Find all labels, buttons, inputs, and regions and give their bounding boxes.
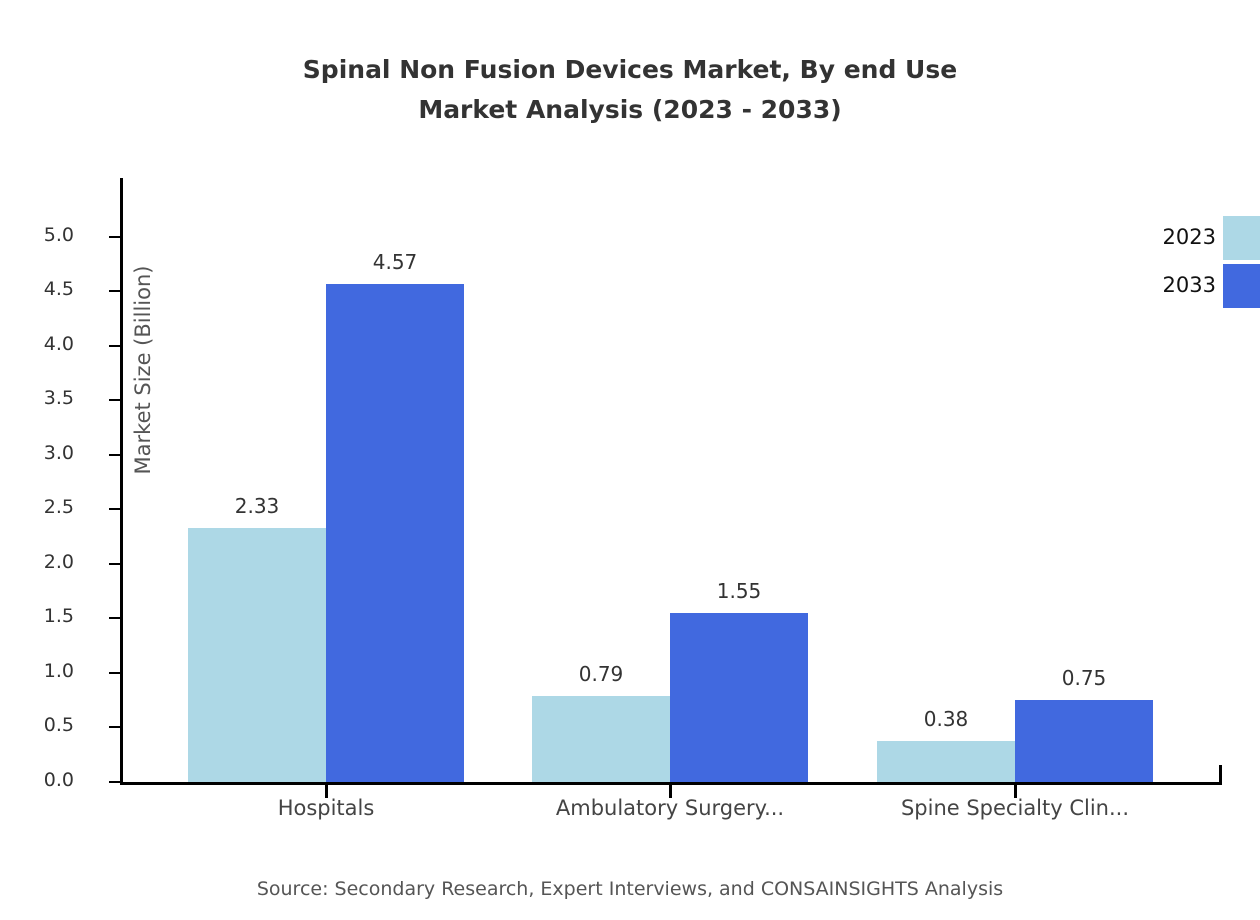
- x-axis-end-tick: [1219, 765, 1222, 785]
- x-axis-category-label: Spine Specialty Clin...: [835, 796, 1195, 820]
- y-axis-tick: [109, 399, 120, 401]
- chart-title-line-1: Spinal Non Fusion Devices Market, By end…: [0, 50, 1260, 90]
- x-axis-category-label: Hospitals: [146, 796, 506, 820]
- y-axis-tick: [109, 781, 120, 783]
- legend-label-2023: 2023: [1120, 225, 1216, 249]
- y-axis-tick-label: 3.5: [0, 387, 74, 409]
- y-axis-tick: [109, 345, 120, 347]
- x-axis-category-label: Ambulatory Surgery...: [490, 796, 850, 820]
- y-axis-tick-label: 4.0: [0, 333, 74, 355]
- y-axis-tick: [109, 508, 120, 510]
- bar-2033-1[interactable]: [670, 613, 808, 782]
- plot-area: Market Size (Billion) 0.00.51.01.52.02.5…: [120, 178, 1222, 782]
- y-axis-tick: [109, 563, 120, 565]
- bar-value-label: 4.57: [315, 250, 475, 274]
- y-axis-tick-label: 2.5: [0, 496, 74, 518]
- legend-swatch-2033: [1223, 264, 1260, 308]
- y-axis-spine: [120, 178, 123, 782]
- chart-title-line-2: Market Analysis (2023 - 2033): [0, 90, 1260, 130]
- bar-value-label: 0.75: [1004, 666, 1164, 690]
- legend-label-2033: 2033: [1120, 273, 1216, 297]
- y-axis-tick-label: 5.0: [0, 224, 74, 246]
- legend-swatch-2023: [1223, 216, 1260, 260]
- legend: 2023 2033: [1120, 216, 1260, 312]
- bar-value-label: 1.55: [659, 579, 819, 603]
- bar-value-label: 0.38: [866, 707, 1026, 731]
- bar-2023-2[interactable]: [877, 741, 1015, 782]
- y-axis-tick: [109, 726, 120, 728]
- legend-item-2033[interactable]: 2033: [1120, 264, 1260, 308]
- y-axis-tick-label: 0.0: [0, 769, 74, 791]
- y-axis-tick: [109, 290, 120, 292]
- y-axis-tick: [109, 454, 120, 456]
- y-axis-tick-label: 3.0: [0, 442, 74, 464]
- y-axis-tick-label: 1.5: [0, 605, 74, 627]
- y-axis-tick-label: 0.5: [0, 714, 74, 736]
- y-axis-tick-label: 2.0: [0, 551, 74, 573]
- legend-item-2023[interactable]: 2023: [1120, 216, 1260, 260]
- source-note: Source: Secondary Research, Expert Inter…: [0, 878, 1260, 900]
- y-axis-tick: [109, 672, 120, 674]
- bar-chart: Spinal Non Fusion Devices Market, By end…: [0, 0, 1260, 920]
- bar-2033-0[interactable]: [326, 284, 464, 782]
- y-axis-tick-label: 1.0: [0, 660, 74, 682]
- chart-title: Spinal Non Fusion Devices Market, By end…: [0, 50, 1260, 130]
- y-axis-tick-label: 4.5: [0, 278, 74, 300]
- bar-value-label: 0.79: [521, 662, 681, 686]
- bar-2033-2[interactable]: [1015, 700, 1153, 782]
- y-axis-tick: [109, 236, 120, 238]
- bar-2023-1[interactable]: [532, 696, 670, 782]
- y-axis-title: Market Size (Billion): [131, 240, 155, 500]
- bar-value-label: 2.33: [177, 494, 337, 518]
- bar-2023-0[interactable]: [188, 528, 326, 782]
- y-axis-tick: [109, 617, 120, 619]
